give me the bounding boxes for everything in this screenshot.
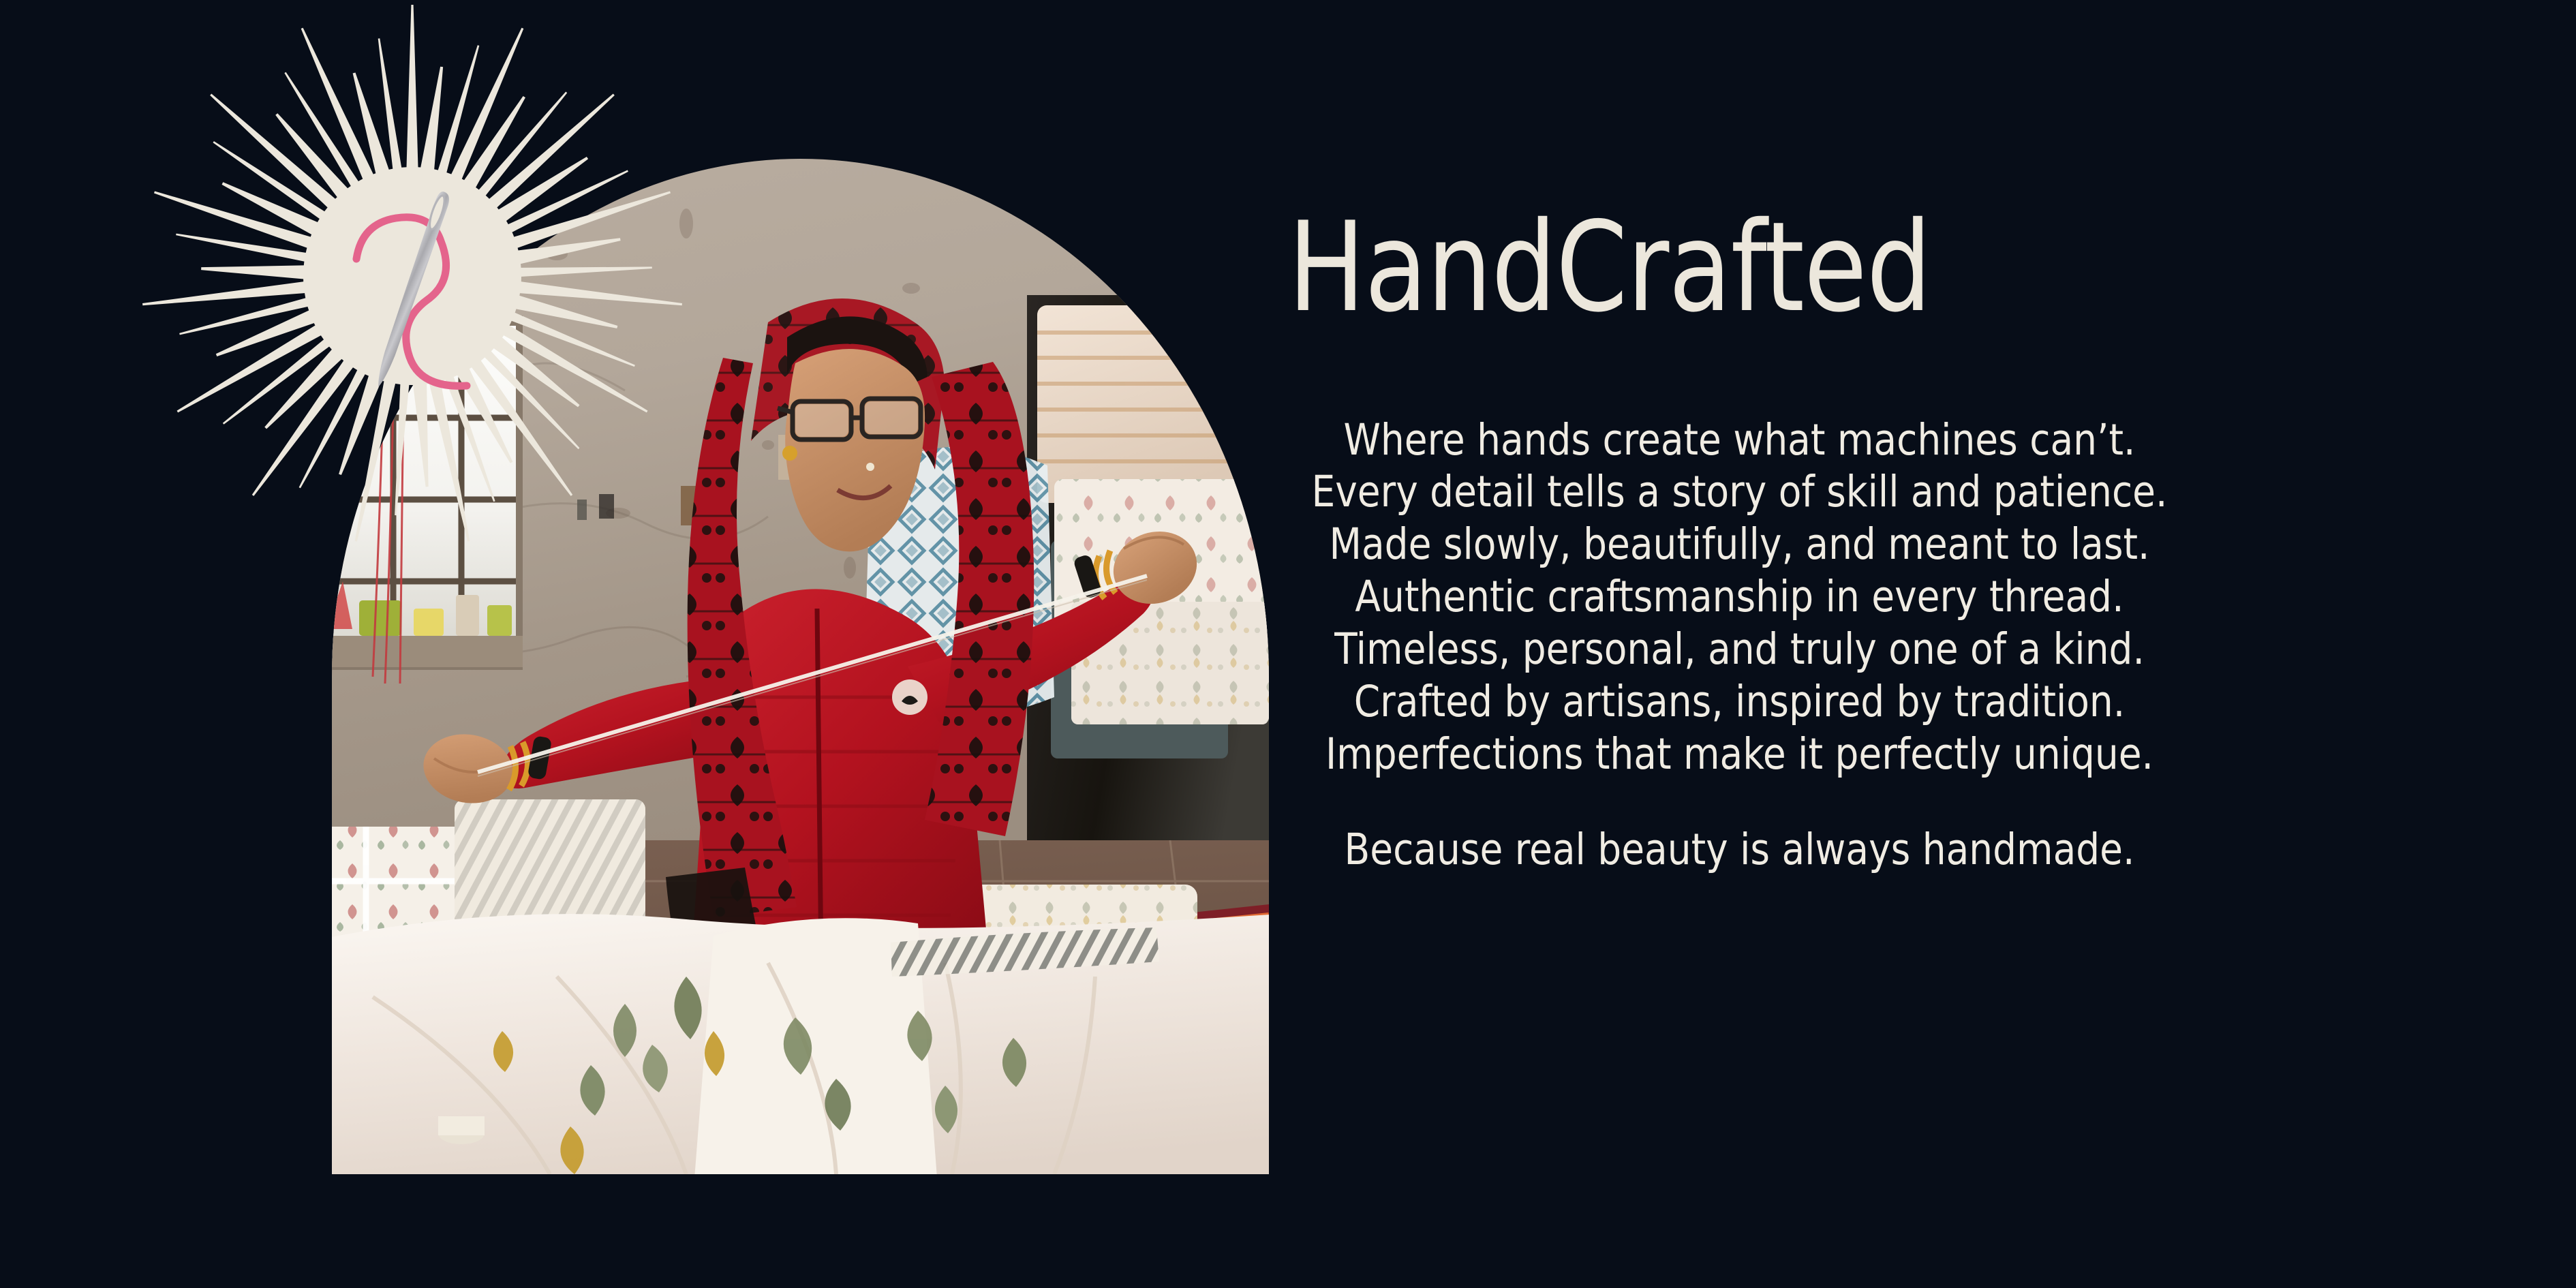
artisan-photo-frame xyxy=(332,159,1269,1174)
page-title: HandCrafted xyxy=(1288,204,2119,331)
copy-column: HandCrafted Where hands create what mach… xyxy=(1288,204,2191,876)
artisan-at-work-photo xyxy=(332,159,1269,1174)
body-paragraph-1: Where hands create what machines can’t. … xyxy=(1312,415,2168,779)
body-copy: Where hands create what machines can’t. … xyxy=(1302,414,2177,876)
body-paragraph-2: Because real beauty is always handmade. xyxy=(1302,824,2177,876)
handcrafted-slide: HandCrafted Where hands create what mach… xyxy=(0,0,2576,1288)
